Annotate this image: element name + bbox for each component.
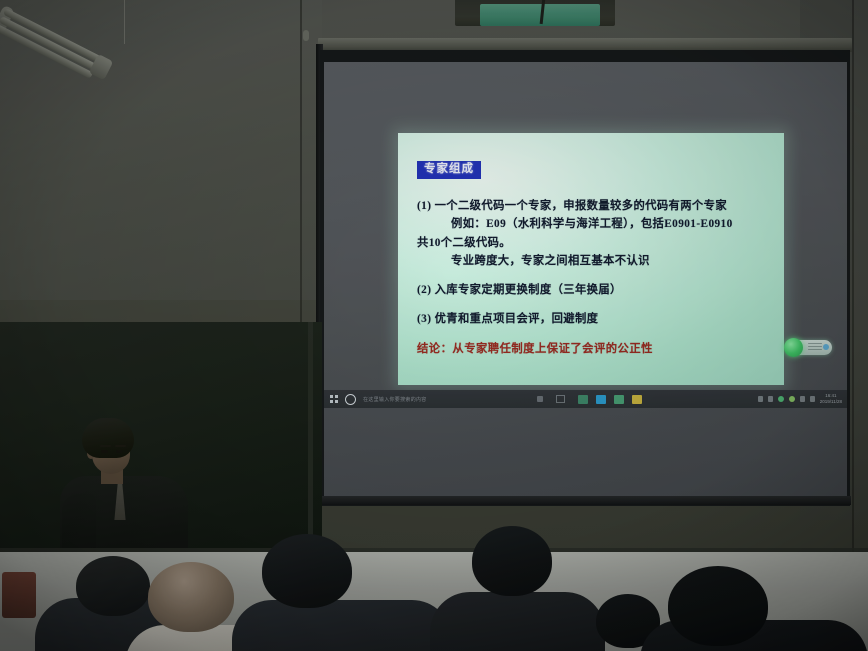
taskbar-clock[interactable]: 16:41 2019/11/28 [820, 393, 842, 405]
battery-icon[interactable] [758, 396, 763, 402]
presenter-eye [101, 450, 108, 453]
task-view-icon[interactable] [537, 396, 543, 402]
taskbar-app-4[interactable] [632, 395, 642, 404]
pill-line [808, 343, 822, 344]
wall-seam-left [300, 0, 302, 330]
taskbar-window-icon[interactable] [556, 395, 565, 403]
chevron-up-icon[interactable] [768, 396, 773, 402]
slide-spacer [417, 270, 769, 281]
taskbar-app-1[interactable] [578, 395, 588, 404]
slide-spacer [417, 299, 769, 310]
cortana-search-icon[interactable] [345, 394, 356, 405]
taskbar-app-3[interactable] [614, 395, 624, 404]
presenter-pill-widget[interactable] [786, 340, 832, 355]
ime-icon[interactable] [800, 396, 805, 402]
pill-widget-dot-icon[interactable] [823, 344, 829, 350]
pill-widget-knob-icon[interactable] [784, 338, 803, 357]
slide-conclusion: 结论：从专家聘任制度上保证了会评的公正性 [417, 340, 769, 358]
audience-shoulders [430, 592, 605, 651]
presenter-brow [115, 445, 126, 447]
audience-head [472, 526, 552, 596]
powerpoint-slide: 专家组成 (1) 一个二级代码一个专家，申报数量较多的代码有两个专家 例如：E0… [398, 133, 784, 385]
slide-bullet-1-count: 共10个二级代码。 [417, 234, 769, 252]
slide-bullet-3: (3) 优青和重点项目会评，回避制度 [417, 310, 769, 328]
lecture-hall-photo: 专家组成 (1) 一个二级代码一个专家，申报数量较多的代码有两个专家 例如：E0… [0, 0, 868, 651]
slide-spacer [417, 329, 769, 340]
windows-start-icon[interactable] [330, 395, 338, 403]
audience-head [262, 534, 352, 608]
clock-date: 2019/11/28 [820, 399, 842, 405]
blackboard-right-edge [308, 322, 313, 562]
wall-seam-right [852, 0, 854, 560]
taskbar-left-group: 在这里输入你要搜索的内容 [324, 394, 427, 405]
slide-body: (1) 一个二级代码一个专家，申报数量较多的代码有两个专家 例如：E09（水利科… [417, 197, 769, 358]
wall-hook [303, 30, 309, 41]
projection-screen-bottom-bar [320, 496, 851, 505]
slide-bullet-1: (1) 一个二级代码一个专家，申报数量较多的代码有两个专家 [417, 197, 769, 215]
network-icon[interactable] [778, 396, 784, 402]
light-hanger-wire [124, 0, 125, 44]
taskbar-search-label[interactable]: 在这里输入你要搜索的内容 [363, 396, 427, 403]
presenter-brow [100, 445, 111, 447]
pill-line [808, 349, 822, 350]
windows-taskbar[interactable]: 在这里输入你要搜索的内容 16:41 2019/11/28 [324, 390, 847, 408]
chair-back [2, 572, 36, 618]
taskbar-system-tray: 16:41 2019/11/28 [758, 393, 847, 405]
slide-bullet-1-example: 例如：E09（水利科学与海洋工程），包括E0901-E0910 [417, 215, 769, 233]
pill-widget-lines [808, 343, 822, 352]
audience-shoulders [232, 600, 452, 651]
presenter-eye [116, 450, 123, 453]
audience-head-bald [148, 562, 234, 632]
taskbar-app-group [578, 395, 642, 404]
presenter-hair [82, 418, 134, 458]
pill-line [808, 346, 822, 347]
action-center-icon[interactable] [810, 396, 815, 402]
audience-head [76, 556, 150, 616]
taskbar-app-2[interactable] [596, 395, 606, 404]
slide-bullet-1-note: 专业跨度大，专家之间相互基本不认识 [417, 252, 769, 270]
taskbar-middle-group [427, 395, 758, 404]
audience-head [668, 566, 768, 646]
volume-icon[interactable] [789, 396, 795, 402]
slide-bullet-2: (2) 入库专家定期更换制度（三年换届） [417, 281, 769, 299]
slide-title: 专家组成 [417, 161, 481, 179]
